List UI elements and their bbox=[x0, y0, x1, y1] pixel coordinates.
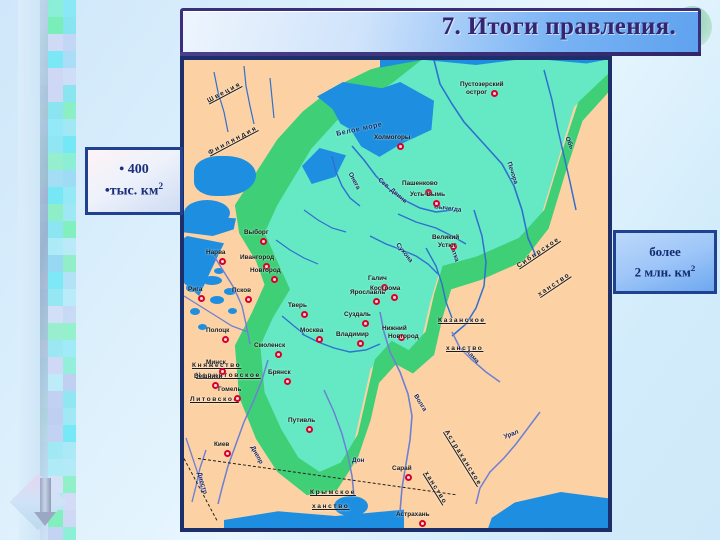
map-region-label: Казанское bbox=[438, 318, 486, 325]
map-city-label: Холмогоры bbox=[374, 135, 410, 142]
map-city-label: Полоцк bbox=[206, 328, 229, 335]
map-city-label: острог bbox=[466, 90, 487, 97]
map-city-marker bbox=[275, 351, 282, 358]
strip-veil bbox=[18, 0, 40, 540]
map-city-label: Выборг bbox=[244, 230, 269, 237]
callout-right-line1: более bbox=[649, 244, 681, 260]
map-city-label: Нижний bbox=[382, 326, 407, 333]
historical-map: ШвецияФинляндияКазанскоеханствоСибирское… bbox=[180, 56, 612, 532]
map-river-label: Урал bbox=[503, 429, 520, 441]
map-city-marker bbox=[391, 294, 398, 301]
map-city-label: Смоленск bbox=[254, 343, 285, 350]
map-region-label: Финляндия bbox=[208, 126, 260, 158]
callout-left-line1: • 400 bbox=[119, 162, 148, 178]
map-city-marker bbox=[224, 450, 231, 457]
map-city-label: Новгород bbox=[388, 334, 419, 341]
map-region-label: Швеция bbox=[207, 82, 243, 106]
map-region-label: ханство bbox=[312, 504, 349, 511]
map-city-label: Москва bbox=[300, 328, 323, 335]
map-city-label: Сарай bbox=[392, 466, 412, 473]
map-city-marker bbox=[271, 276, 278, 283]
map-region-label: Литовское bbox=[190, 397, 239, 404]
down-arrow-diamond-icon bbox=[14, 474, 80, 532]
map-city-marker bbox=[234, 395, 241, 402]
callout-right-2-million: более 2 млн. км2 bbox=[613, 230, 717, 294]
map-city-label: Псков bbox=[232, 288, 251, 295]
map-city-label: Киев bbox=[214, 442, 229, 449]
map-city-label: Пустозерский bbox=[460, 82, 504, 89]
map-city-label: Путивль bbox=[288, 418, 315, 425]
map-city-marker bbox=[357, 340, 364, 347]
map-city-marker bbox=[301, 311, 308, 318]
map-region-label: Астраханское bbox=[442, 429, 482, 487]
map-city-marker bbox=[284, 378, 291, 385]
map-river-label: Днепр bbox=[248, 445, 263, 466]
map-city-marker bbox=[316, 336, 323, 343]
map-city-label: Пашенково bbox=[402, 181, 438, 188]
decorative-mosaic-strip bbox=[18, 0, 76, 540]
map-region-label: Крымское bbox=[310, 490, 356, 497]
map-region-label: ханство bbox=[422, 471, 448, 506]
callout-left-400-thousand: • 400 •тыс. км2 bbox=[85, 147, 183, 215]
map-city-label: Брянск bbox=[268, 370, 291, 377]
title-banner: 7. Итоги правления. bbox=[180, 8, 701, 56]
map-city-label: Кострома bbox=[370, 286, 400, 293]
map-city-label: Тверь bbox=[288, 303, 307, 310]
map-region-label: ханство bbox=[537, 272, 572, 299]
callout-left-line2: •тыс. км2 bbox=[105, 182, 163, 200]
map-city-marker bbox=[219, 258, 226, 265]
map-city-label: Минск bbox=[206, 360, 226, 367]
map-city-label: Рига bbox=[188, 287, 202, 294]
map-river-label: Днестр bbox=[195, 472, 208, 495]
map-city-marker bbox=[419, 520, 426, 527]
map-city-label: Гомель bbox=[218, 387, 241, 394]
map-city-label: Галич bbox=[368, 276, 387, 283]
map-river-label: Волга bbox=[412, 394, 428, 413]
map-city-label: Ивангород bbox=[240, 255, 274, 262]
map-city-marker bbox=[405, 474, 412, 481]
map-city-label: Вешники bbox=[194, 374, 222, 381]
map-city-marker bbox=[222, 336, 229, 343]
map-city-label: Суздаль bbox=[344, 312, 371, 319]
map-city-label: Великий bbox=[432, 235, 459, 242]
map-city-marker bbox=[260, 238, 267, 245]
map-city-label: Владимир bbox=[336, 332, 369, 339]
map-city-label: Нарва bbox=[206, 250, 225, 257]
map-city-marker bbox=[245, 296, 252, 303]
map-city-label: Усть-Вымь bbox=[410, 192, 445, 199]
map-river-label: Дон bbox=[352, 458, 364, 465]
page-title: 7. Итоги правления. bbox=[442, 13, 676, 41]
map-canvas: ШвецияФинляндияКазанскоеханствоСибирское… bbox=[184, 60, 608, 528]
slide-canvas: 7. Итоги правления. ШвецияФинляндияКазан… bbox=[0, 0, 720, 540]
map-city-label: Устюг bbox=[438, 243, 456, 250]
map-city-label: Новгород bbox=[250, 268, 281, 275]
map-city-marker bbox=[198, 295, 205, 302]
map-city-label: Астрахань bbox=[396, 512, 430, 519]
callout-right-line2: 2 млн. км2 bbox=[635, 263, 696, 280]
